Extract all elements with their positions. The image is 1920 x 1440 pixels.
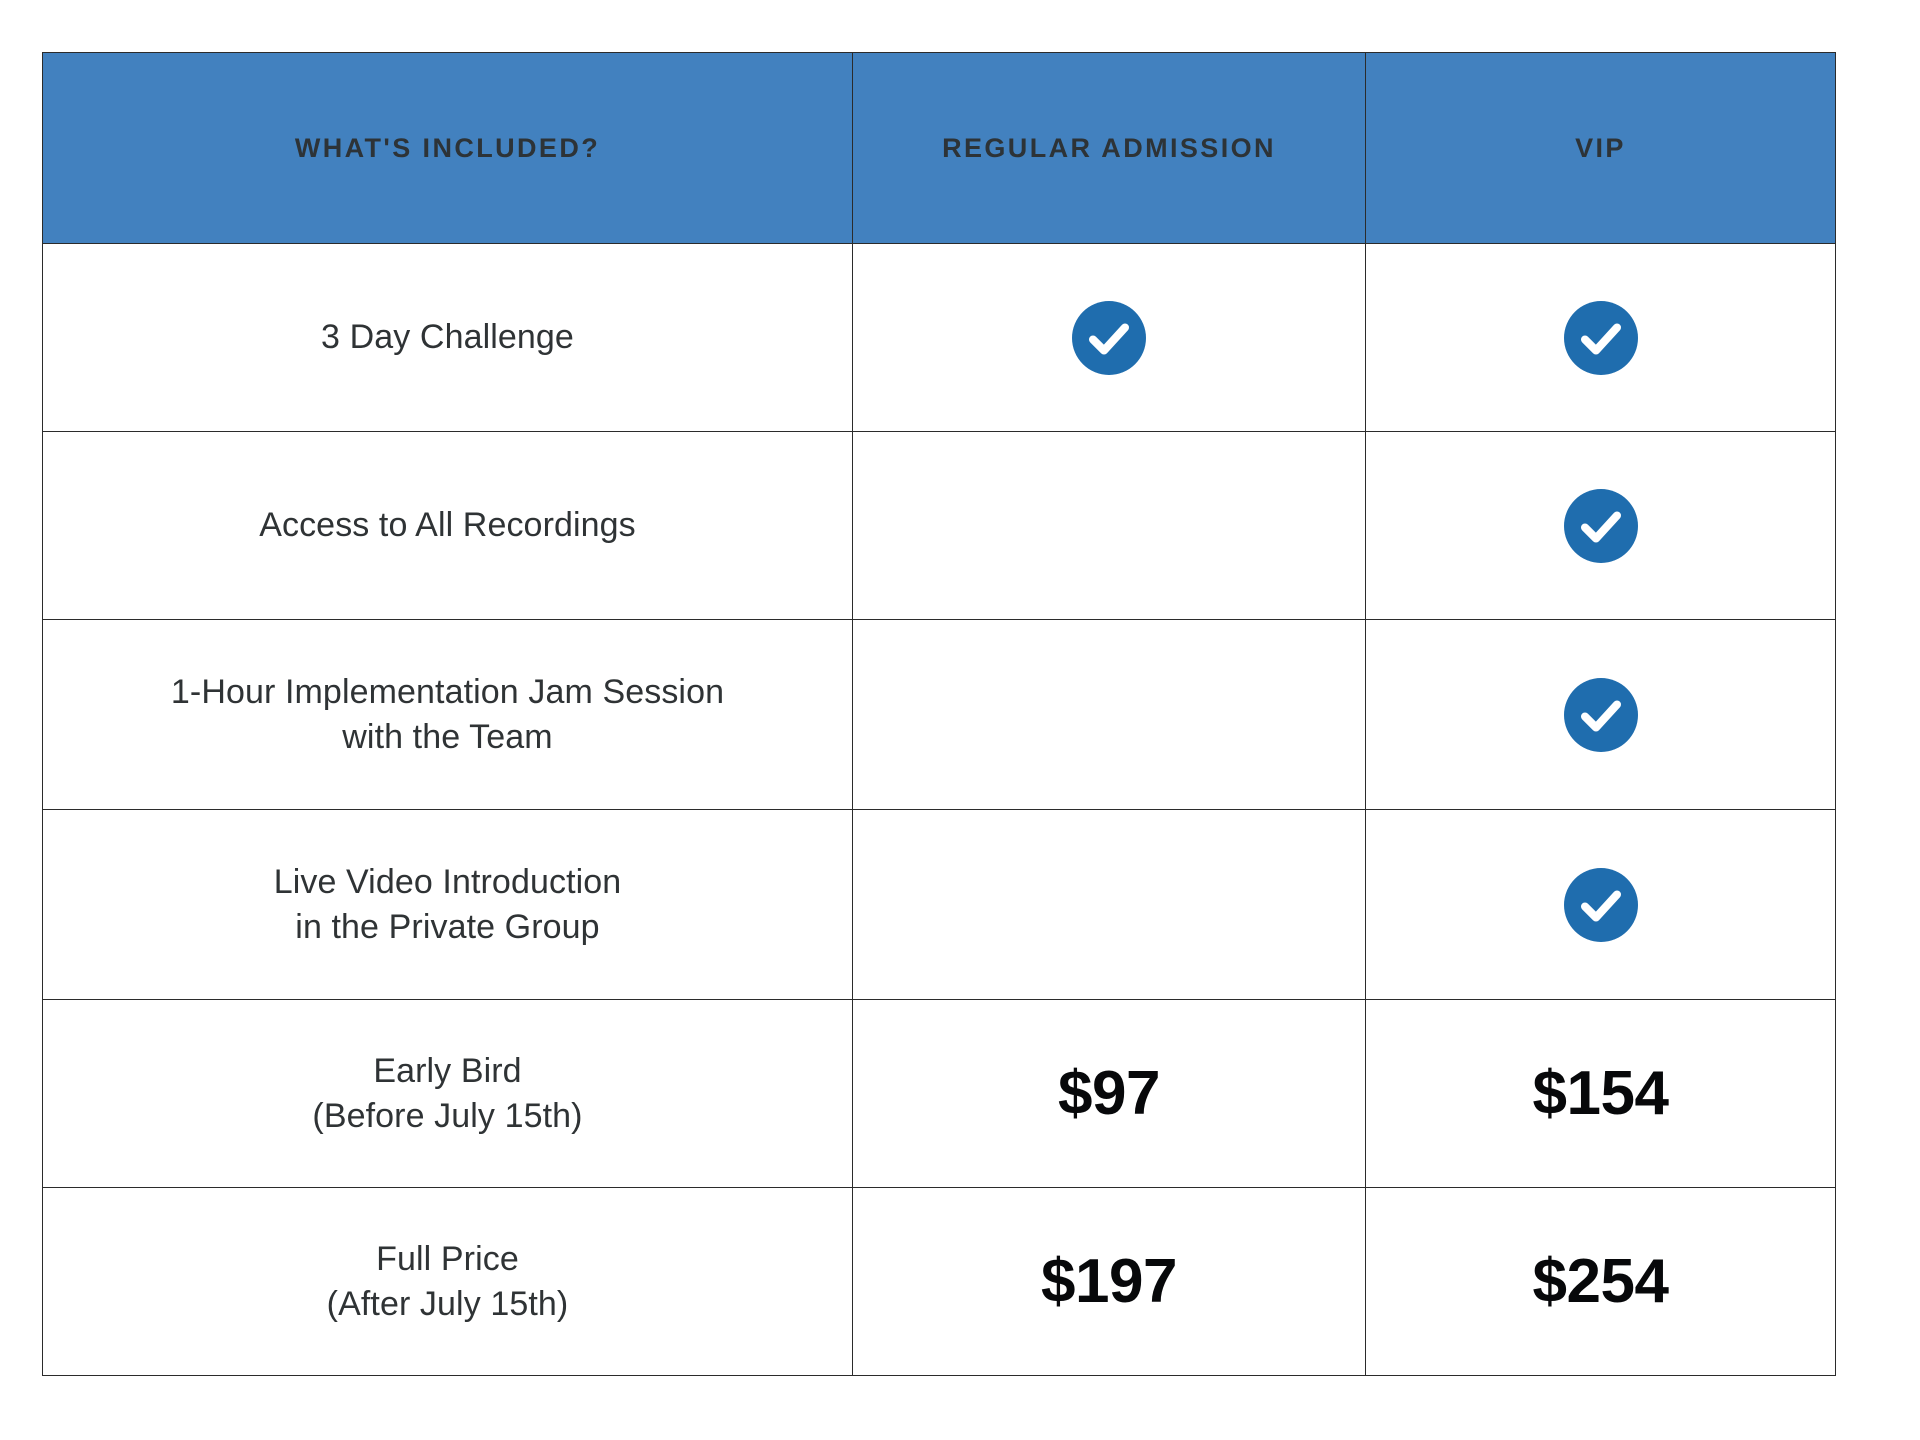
feature-label-cell: Access to All Recordings bbox=[43, 432, 853, 620]
table-row: 3 Day Challenge bbox=[43, 244, 1836, 432]
vip-price: $154 bbox=[1366, 1000, 1836, 1188]
regular-admission-price: $197 bbox=[853, 1188, 1366, 1376]
vip-cell bbox=[1366, 244, 1836, 432]
regular-admission-cell bbox=[853, 620, 1366, 810]
column-header-regular-admission: REGULAR ADMISSION bbox=[853, 53, 1366, 244]
check-circle-icon bbox=[1564, 301, 1638, 375]
empty-cell-marker bbox=[1072, 675, 1146, 749]
feature-label-cell: 3 Day Challenge bbox=[43, 244, 853, 432]
feature-label-line-1: Full Price bbox=[77, 1237, 818, 1282]
feature-label-cell: Live Video Introduction in the Private G… bbox=[43, 810, 853, 1000]
feature-label-line-1: Access to All Recordings bbox=[77, 503, 818, 548]
feature-label-line-2: with the Team bbox=[77, 715, 818, 760]
table-header: WHAT'S INCLUDED? REGULAR ADMISSION VIP bbox=[43, 53, 1836, 244]
vip-cell bbox=[1366, 620, 1836, 810]
feature-label-line-1: 1-Hour Implementation Jam Session bbox=[77, 670, 818, 715]
feature-label-cell: Full Price (After July 15th) bbox=[43, 1188, 853, 1376]
check-circle-icon bbox=[1072, 301, 1146, 375]
feature-label-cell: Early Bird (Before July 15th) bbox=[43, 1000, 853, 1188]
vip-cell bbox=[1366, 432, 1836, 620]
check-circle-icon bbox=[1564, 678, 1638, 752]
vip-cell bbox=[1366, 810, 1836, 1000]
regular-admission-cell bbox=[853, 244, 1366, 432]
table-body: 3 Day Challenge bbox=[43, 244, 1836, 1376]
feature-label-line-1: 3 Day Challenge bbox=[77, 315, 818, 360]
feature-label-cell: 1-Hour Implementation Jam Session with t… bbox=[43, 620, 853, 810]
table-header-row: WHAT'S INCLUDED? REGULAR ADMISSION VIP bbox=[43, 53, 1836, 244]
table-row: Access to All Recordings bbox=[43, 432, 1836, 620]
empty-cell-marker bbox=[1072, 865, 1146, 939]
regular-admission-price: $97 bbox=[853, 1000, 1366, 1188]
table-row: Full Price (After July 15th) $197 $254 bbox=[43, 1188, 1836, 1376]
column-header-vip: VIP bbox=[1366, 53, 1836, 244]
table-row: Live Video Introduction in the Private G… bbox=[43, 810, 1836, 1000]
column-header-features: WHAT'S INCLUDED? bbox=[43, 53, 853, 244]
check-circle-icon bbox=[1564, 868, 1638, 942]
regular-admission-cell bbox=[853, 810, 1366, 1000]
empty-cell-marker bbox=[1072, 486, 1146, 560]
table-row: Early Bird (Before July 15th) $97 $154 bbox=[43, 1000, 1836, 1188]
feature-label-line-1: Early Bird bbox=[77, 1049, 818, 1094]
pricing-comparison-page: WHAT'S INCLUDED? REGULAR ADMISSION VIP 3… bbox=[0, 0, 1920, 1440]
feature-label-line-2: (Before July 15th) bbox=[77, 1094, 818, 1139]
feature-label-line-1: Live Video Introduction bbox=[77, 860, 818, 905]
vip-price: $254 bbox=[1366, 1188, 1836, 1376]
check-circle-icon bbox=[1564, 489, 1638, 563]
regular-admission-cell bbox=[853, 432, 1366, 620]
pricing-comparison-table: WHAT'S INCLUDED? REGULAR ADMISSION VIP 3… bbox=[42, 52, 1836, 1376]
table-row: 1-Hour Implementation Jam Session with t… bbox=[43, 620, 1836, 810]
feature-label-line-2: in the Private Group bbox=[77, 905, 818, 950]
feature-label-line-2: (After July 15th) bbox=[77, 1282, 818, 1327]
